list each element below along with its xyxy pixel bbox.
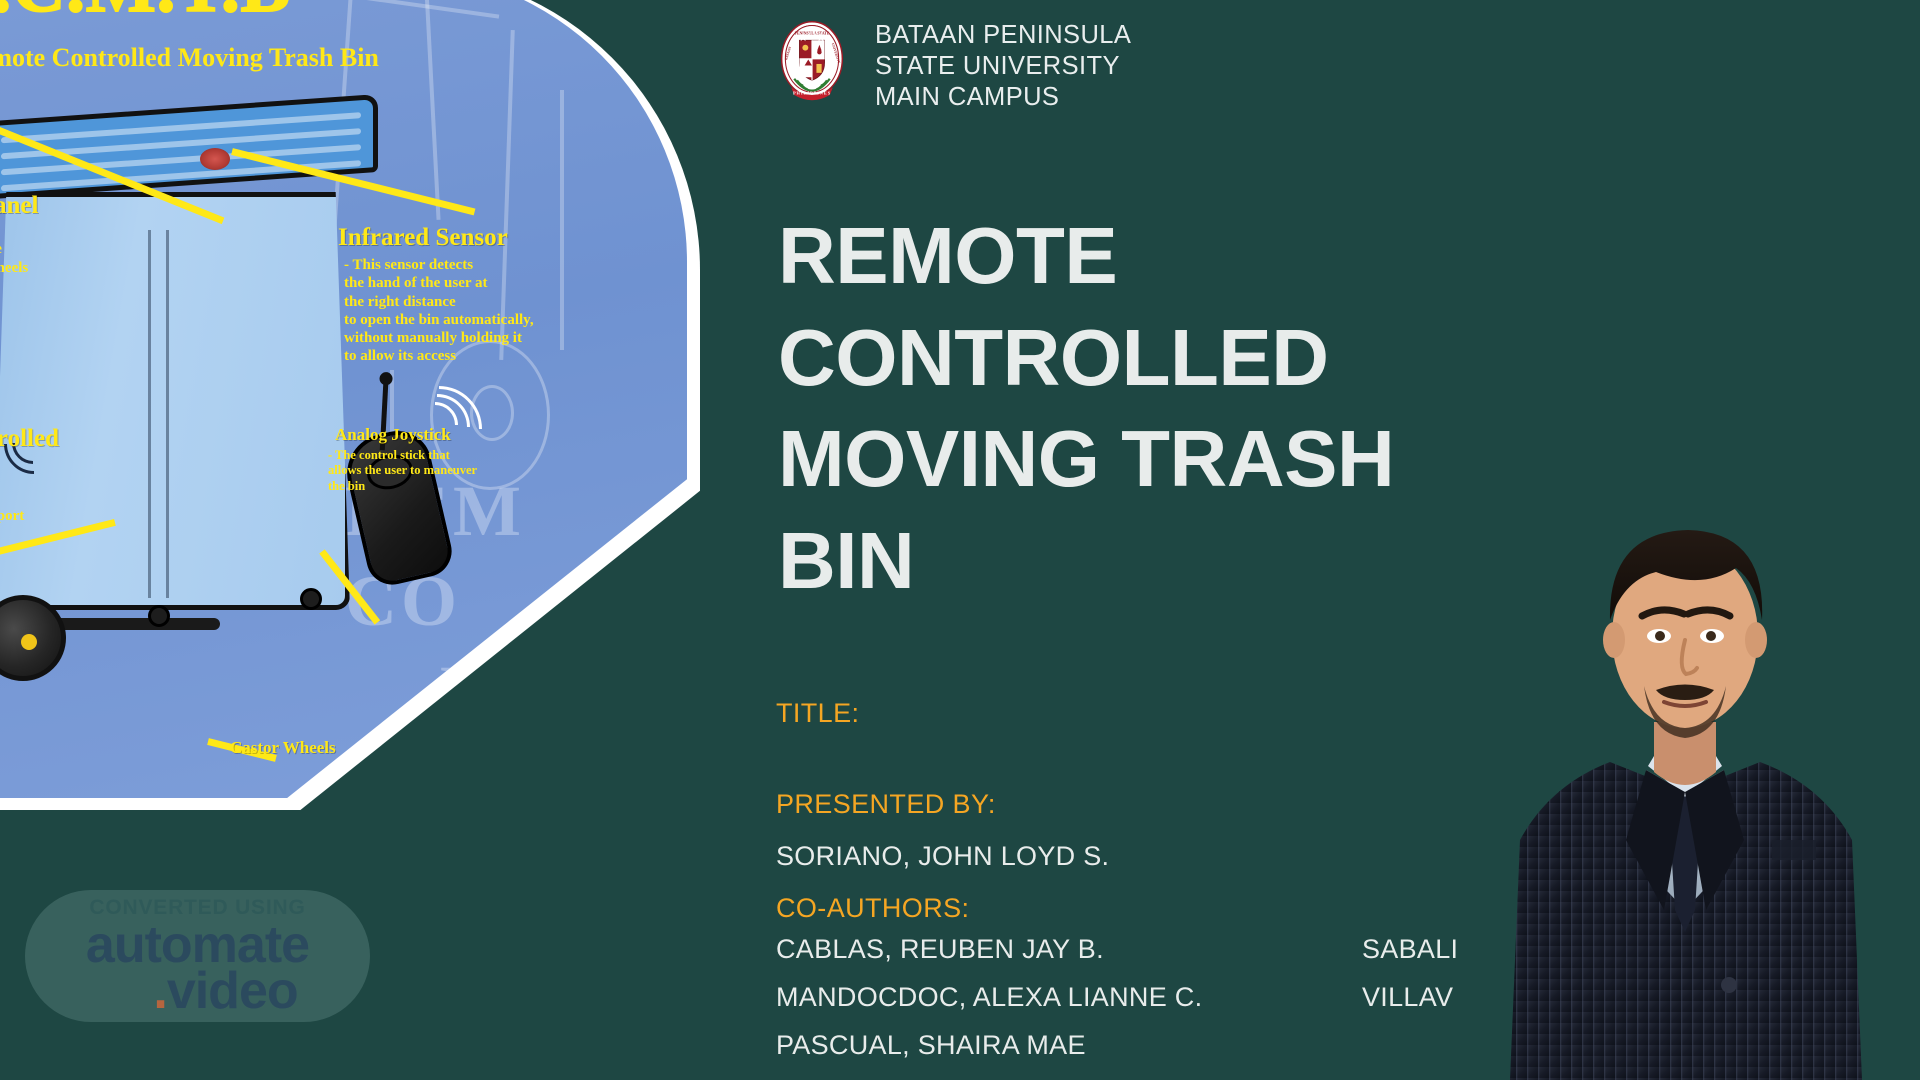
annotation-infrared-sensor-heading: Infrared Sensor [338,224,508,252]
presenter-figure [1450,440,1920,1080]
title-line: CONTROLLED [778,307,1708,409]
poster-artwork: REM CO M N R.C.M.T.B Remote Controlled M… [0,0,687,798]
bin-seam [148,230,151,598]
university-name-block: BATAAN PENINSULA STATE UNIVERSITY MAIN C… [875,18,1131,113]
annotation-analog-joystick-heading: Analog Joystick [335,425,451,445]
annotation-solar-panel-body: - To harness the energy from the sun to … [0,222,28,277]
co-author-name: VILLAV [1362,982,1453,1013]
poster-title: R.C.M.T.B [0,0,458,22]
lid-slat [1,112,361,143]
watermark-badge: CONVERTED USING automate .video [25,890,370,1022]
bin-body [0,192,350,610]
presenter-avatar [1450,440,1920,1080]
label-co-authors: CO-AUTHORS: [776,893,969,924]
university-header: PENINSULA STATE BATAAN UNIVERSITY PHILIP… [775,18,1131,113]
castor-wheel [300,588,322,610]
bin-seam [166,230,169,598]
annotation-solar-panel-heading: Solar Panel [0,192,38,220]
watermark-domain: .video [153,968,297,1016]
bin-lid [0,94,378,200]
svg-text:PENINSULA STATE: PENINSULA STATE [795,31,830,35]
svg-text:PHILIPPINES: PHILIPPINES [793,90,831,95]
annotation-remote-controlled-body: - Long range support [0,507,24,525]
co-author-name: MANDOCDOC, ALEXA LIANNE C. [776,982,1202,1013]
infrared-led-icon [200,148,230,170]
co-author-name: SABALI [1362,934,1458,965]
co-author-name: CABLAS, REUBEN JAY B. [776,934,1104,965]
annotation-infrared-sensor-body: - This sensor detects the hand of the us… [344,256,534,366]
poster-image-panel: REM CO M N R.C.M.T.B Remote Controlled M… [0,0,700,810]
ghost-line [560,90,564,350]
label-title: TITLE: [776,698,859,729]
watermark-domain-text: video [167,962,298,1020]
title-line: REMOTE [778,205,1708,307]
annotation-analog-joystick-body: - The control stick that allows the user… [328,448,477,494]
watermark-dot: . [153,962,166,1020]
org-line-3: MAIN CAMPUS [875,82,1131,113]
co-author-name: PASCUAL, SHAIRA MAE [776,1030,1086,1061]
poster-subtitle: Remote Controlled Moving Trash Bin [0,43,520,73]
annotation-remote-controlled-heading: Remote Controlled [0,425,59,453]
ghost-line [423,0,440,220]
castor-wheel [148,605,170,627]
org-line-2: STATE UNIVERSITY [875,51,1131,82]
ghost-word: N [450,735,506,798]
wheel-hub [21,634,37,650]
annotation-castor-wheels-heading: Castor Wheels [230,738,336,758]
label-presented-by: PRESENTED BY: [776,789,996,820]
bpsu-seal-icon: PENINSULA STATE BATAAN UNIVERSITY PHILIP… [775,18,849,104]
presenter-name: SORIANO, JOHN LOYD S. [776,841,1109,872]
org-line-1: BATAAN PENINSULA [875,20,1131,51]
